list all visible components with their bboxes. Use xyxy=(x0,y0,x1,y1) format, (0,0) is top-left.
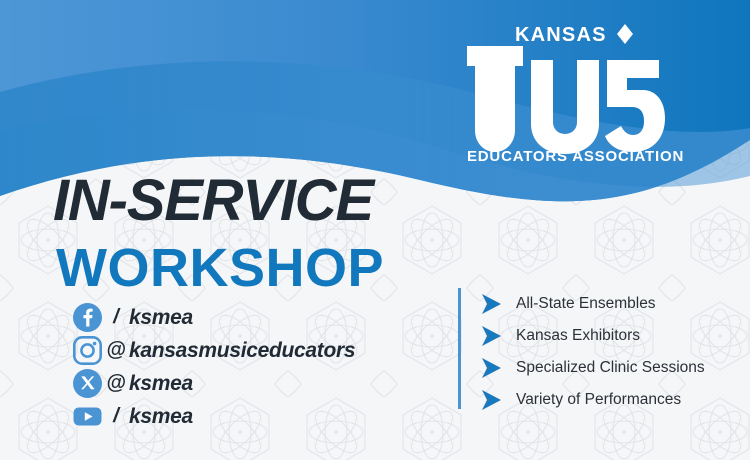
social-separator: @ xyxy=(103,372,129,395)
feature-label: Kansas Exhibitors xyxy=(516,327,640,345)
feature-item-kansas-exhibitors: Kansas Exhibitors xyxy=(480,320,705,352)
social-handle-instagram[interactable]: kansasmusiceducators xyxy=(129,339,355,363)
social-row-youtube[interactable]: / ksmea xyxy=(72,400,355,433)
feature-label: Specialized Clinic Sessions xyxy=(516,359,705,377)
headline-in-service: IN-SERVICE xyxy=(53,172,384,230)
social-separator: @ xyxy=(103,339,129,362)
feature-item-all-state-ensembles: All-State Ensembles xyxy=(480,288,705,320)
feature-item-variety-of-performances: Variety of Performances xyxy=(480,384,705,416)
x-twitter-icon[interactable] xyxy=(72,368,103,399)
feature-list: All-State Ensembles Kansas Exhibitors Sp… xyxy=(458,288,705,416)
facebook-icon[interactable] xyxy=(72,302,103,333)
instagram-icon[interactable] xyxy=(72,335,103,366)
youtube-icon[interactable] xyxy=(72,401,103,432)
in-service-workshop-poster: KANSAS EDUCATORS ASSOCIATION IN- xyxy=(0,0,750,460)
social-row-x-twitter[interactable]: @ ksmea xyxy=(72,367,355,400)
feature-list-rule xyxy=(458,288,461,409)
social-separator: / xyxy=(103,306,129,329)
social-handle-youtube[interactable]: ksmea xyxy=(129,405,193,429)
headline-workshop: WORKSHOP xyxy=(56,241,384,295)
social-row-instagram[interactable]: @ kansasmusiceducators xyxy=(72,334,355,367)
feature-label: All-State Ensembles xyxy=(516,295,656,313)
social-separator: / xyxy=(103,405,129,428)
arrow-right-icon xyxy=(480,356,502,380)
diamond-icon xyxy=(617,24,633,44)
social-links: / ksmea @ kansasmusiceducators @ xyxy=(72,301,355,433)
kmea-logo: KANSAS EDUCATORS ASSOCIATION xyxy=(455,18,685,163)
arrow-right-icon xyxy=(480,292,502,316)
page-title: IN-SERVICE WORKSHOP xyxy=(53,172,384,295)
logo-bottom-text: EDUCATORS ASSOCIATION xyxy=(467,148,684,163)
social-row-facebook[interactable]: / ksmea xyxy=(72,301,355,334)
arrow-right-icon xyxy=(480,324,502,348)
social-handle-facebook[interactable]: ksmea xyxy=(129,306,193,330)
feature-label: Variety of Performances xyxy=(516,391,681,409)
feature-item-specialized-clinic-sessions: Specialized Clinic Sessions xyxy=(480,352,705,384)
logo-top-text: KANSAS xyxy=(515,24,607,46)
social-handle-x-twitter[interactable]: ksmea xyxy=(129,372,193,396)
arrow-right-icon xyxy=(480,388,502,412)
